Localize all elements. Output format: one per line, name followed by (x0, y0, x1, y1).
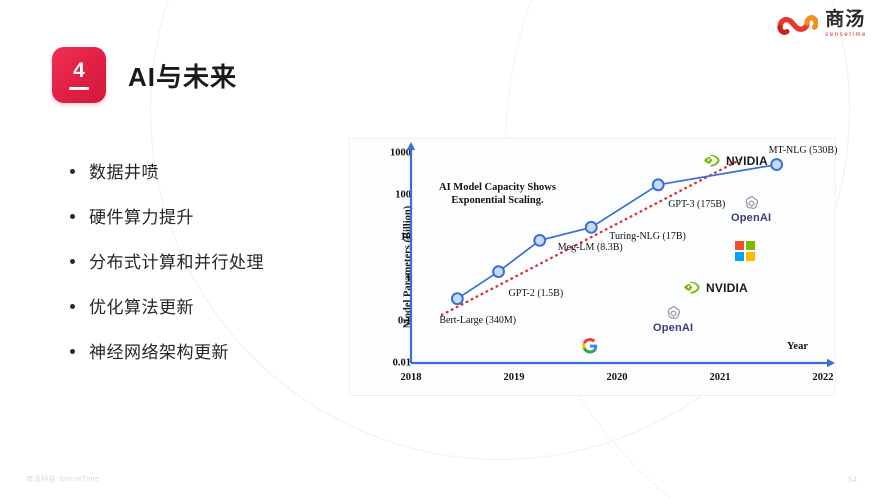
bullet-dot-icon (70, 259, 75, 264)
nvidia-icon (683, 281, 703, 295)
bullet-dot-icon (70, 169, 75, 174)
footer-brand: 商汤科技 SenseTime (26, 474, 100, 484)
openai-wordmark: OpenAI (653, 323, 693, 334)
chart-panel: Model Parameters (Billion) 0.010.1110100… (348, 138, 836, 396)
chart-point-label: GPT-3 (175B) (668, 199, 725, 210)
bullet-dot-icon (70, 349, 75, 354)
nvidia-logo: NVIDIA (683, 281, 748, 295)
list-item-label: 神经网络架构更新 (89, 338, 229, 363)
list-item: 数据井喷 (70, 158, 264, 183)
section-number: 4 (73, 60, 85, 81)
brand-text: 商汤 sensetime (825, 10, 867, 38)
list-item: 优化算法更新 (70, 293, 264, 318)
section-number-badge: 4 (52, 47, 106, 103)
nvidia-wordmark: NVIDIA (726, 155, 768, 167)
chart-point-label: Turing-NLG (17B) (609, 231, 686, 242)
bullet-dot-icon (70, 214, 75, 219)
chart-title: AI Model Capacity ShowsExponential Scali… (439, 181, 556, 207)
chart-point-label: Meg-LM (8.3B) (558, 242, 623, 253)
badge-underline (69, 87, 89, 90)
brand-logo: 商汤 sensetime (776, 10, 867, 38)
chart-point-label: Bert-Large (340M) (439, 315, 516, 326)
chart-x-axis-label: Year (787, 341, 808, 352)
chart-canvas: Model Parameters (Billion) 0.010.1110100… (349, 139, 835, 395)
google-icon (581, 337, 599, 355)
openai-wordmark: OpenAI (731, 213, 771, 224)
list-item: 硬件算力提升 (70, 203, 264, 228)
brand-name-cn: 商汤 (825, 10, 867, 29)
chart-point-label: MT-NLG (530B) (769, 145, 838, 156)
slide: 商汤 sensetime 4 AI与未来 数据井喷 硬件算力提升 分布式计算和并… (0, 0, 885, 498)
chart-point-label: GPT-2 (1.5B) (509, 288, 564, 299)
list-item-label: 分布式计算和并行处理 (89, 248, 264, 273)
title-row: 4 AI与未来 (52, 47, 237, 103)
openai-logo: OpenAI (731, 195, 771, 224)
bullet-list: 数据井喷 硬件算力提升 分布式计算和并行处理 优化算法更新 神经网络架构更新 (70, 158, 264, 363)
list-item: 神经网络架构更新 (70, 338, 264, 363)
microsoft-logo (735, 241, 755, 261)
nvidia-logo: NVIDIA (703, 154, 768, 168)
openai-icon (743, 195, 760, 212)
infinity-mark-icon (776, 13, 818, 35)
brand-name-en: sensetime (825, 32, 867, 38)
list-item-label: 优化算法更新 (89, 293, 194, 318)
list-item: 分布式计算和并行处理 (70, 248, 264, 273)
page-title: AI与未来 (128, 57, 237, 94)
nvidia-icon (703, 154, 723, 168)
list-item-label: 数据井喷 (89, 158, 159, 183)
list-item-label: 硬件算力提升 (89, 203, 194, 228)
page-number: 54 (848, 475, 857, 484)
google-logo (581, 337, 599, 360)
openai-logo: OpenAI (653, 305, 693, 334)
openai-icon (665, 305, 682, 322)
bullet-dot-icon (70, 304, 75, 309)
nvidia-wordmark: NVIDIA (706, 282, 748, 294)
